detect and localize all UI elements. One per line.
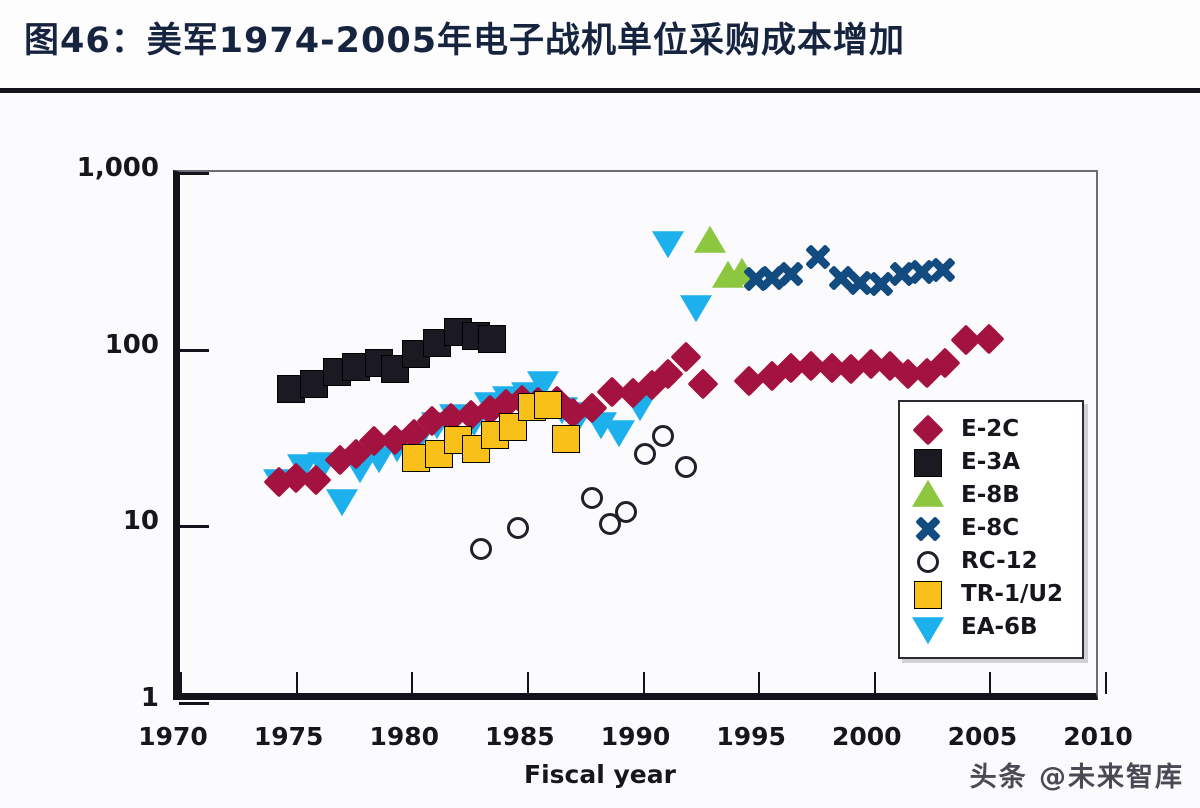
y-tick-label: 1: [0, 683, 159, 713]
legend-label: E-3A: [961, 449, 1020, 475]
marker-triangle-down: [912, 617, 944, 644]
legend-item-e-8b[interactable]: E-8B: [914, 482, 1074, 511]
page-title: 图46：美军1974-2005年电子战机单位采购成本增加: [24, 12, 905, 63]
marker-circle-open: [581, 487, 603, 509]
legend-label: E-8B: [961, 482, 1020, 508]
chart-legend[interactable]: E-2CE-3AE-8BE-8CRC-12TR-1/U2EA-6B: [898, 400, 1084, 659]
chart-figure: Average unit costs (then-year $M) Fiscal…: [0, 93, 1200, 808]
x-tick-label: 1975: [229, 722, 349, 751]
marker-diamond: [912, 414, 943, 445]
marker-square: [914, 449, 942, 477]
marker-x: [914, 515, 942, 543]
marker-circle-open: [507, 517, 529, 539]
x-tick-label: 1980: [344, 722, 464, 751]
legend-item-ea-6b[interactable]: EA-6B: [914, 614, 1074, 643]
marker-circle-open: [615, 501, 637, 523]
marker-square: [914, 581, 942, 609]
marker-circle-open: [652, 425, 674, 447]
legend-label: EA-6B: [961, 614, 1038, 640]
legend-item-rc-12[interactable]: RC-12: [914, 548, 1074, 577]
x-tick-label: 1970: [113, 722, 233, 751]
legend-label: RC-12: [961, 548, 1038, 574]
marker-circle-open: [470, 538, 492, 560]
x-tick-label: 1985: [460, 722, 580, 751]
marker-circle-open: [634, 443, 656, 465]
y-tick-label: 10: [0, 506, 159, 536]
legend-label: E-8C: [961, 515, 1019, 541]
legend-item-e-3a[interactable]: E-3A: [914, 449, 1074, 478]
x-tick-label: 2005: [922, 722, 1042, 751]
legend-label: E-2C: [961, 416, 1019, 442]
marker-triangle-up: [912, 480, 944, 507]
y-tick-label: 100: [0, 330, 159, 360]
marker-circle-open: [675, 456, 697, 478]
marker-circle-open: [917, 551, 939, 573]
legend-item-tr-1-u2[interactable]: TR-1/U2: [914, 581, 1074, 610]
y-tick-label: 1,000: [0, 153, 159, 183]
watermark: 头条 @未来智库: [970, 755, 1184, 794]
marker-circle-open: [599, 513, 621, 535]
x-tick-label: 1990: [576, 722, 696, 751]
legend-label: TR-1/U2: [961, 581, 1063, 607]
legend-item-e-8c[interactable]: E-8C: [914, 515, 1074, 544]
y-tick-1: [179, 702, 209, 705]
figure-title-band: 图46：美军1974-2005年电子战机单位采购成本增加: [0, 0, 1200, 88]
x-tick-label: 2010: [1038, 722, 1158, 751]
legend-item-e-2c[interactable]: E-2C: [914, 416, 1074, 445]
x-tick-label: 1995: [691, 722, 811, 751]
x-tick-2010: [1105, 672, 1107, 694]
x-tick-label: 2000: [807, 722, 927, 751]
